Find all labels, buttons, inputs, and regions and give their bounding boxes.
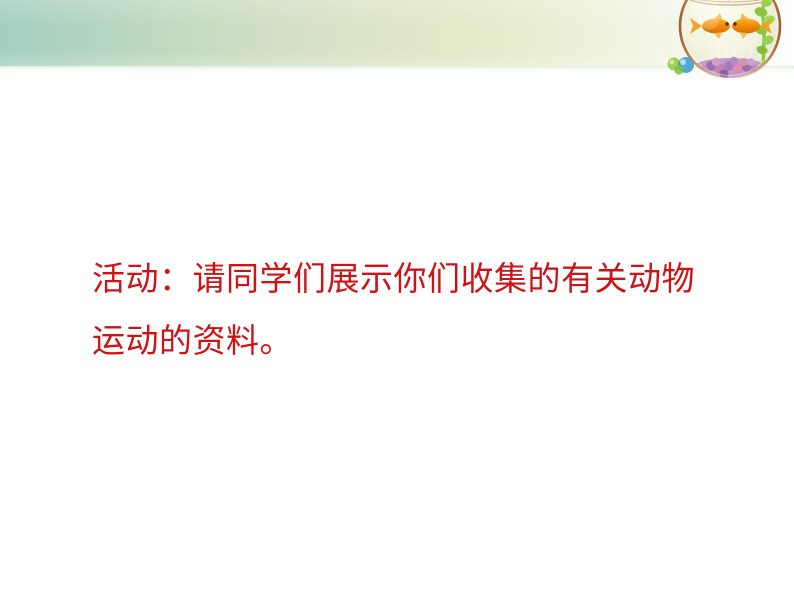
slide-body-text: 活动：请同学们展示你们收集的有关动物 运动的资料。 [92,248,752,372]
fishbowl-vessel [680,0,780,82]
body-text-line-1: 活动：请同学们展示你们收集的有关动物 [92,248,752,310]
glass-marbles [668,57,695,75]
body-text-line-2: 运动的资料。 [92,310,752,372]
slide-canvas: 活动：请同学们展示你们收集的有关动物 运动的资料。 [0,0,794,596]
fishbowl-image [666,0,794,92]
